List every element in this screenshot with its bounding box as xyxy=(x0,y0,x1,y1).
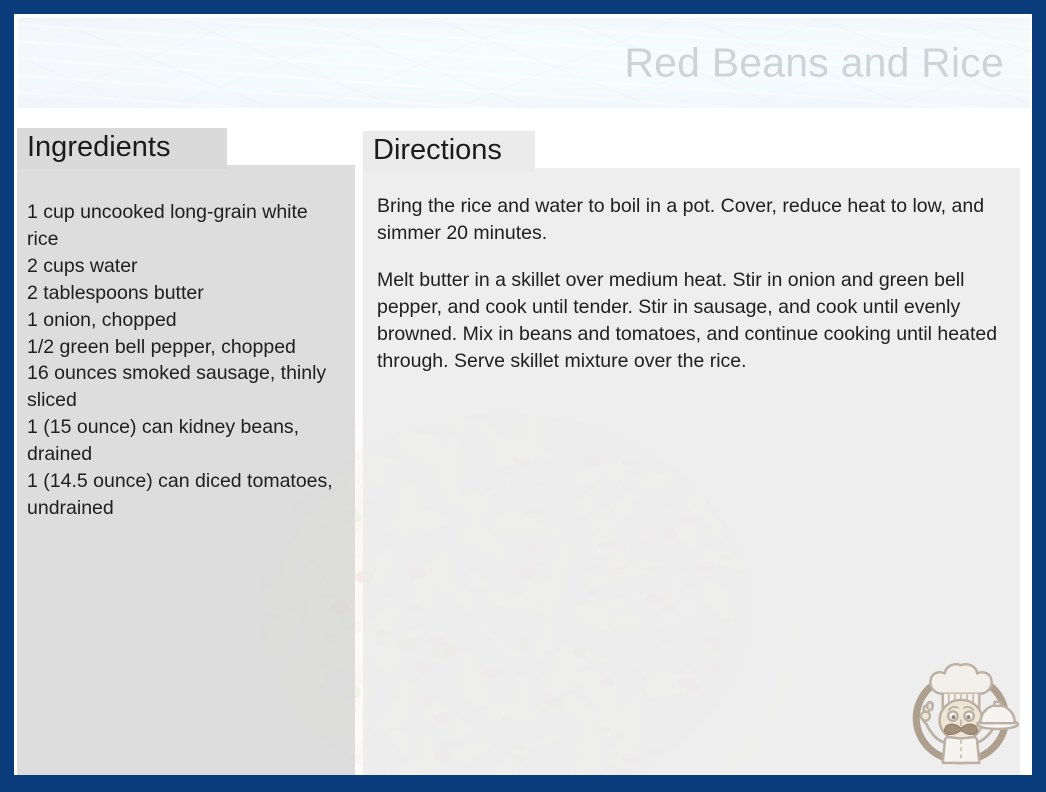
content-panels: Ingredients 1 cup uncooked long-grain wh… xyxy=(14,14,1032,775)
direction-step: Bring the rice and water to boil in a po… xyxy=(377,193,1006,247)
chef-with-platter-logo xyxy=(900,649,1022,771)
ingredients-body: 1 cup uncooked long-grain white rice2 cu… xyxy=(17,165,355,775)
ingredient-item: 1 (14.5 ounce) can diced tomatoes, undra… xyxy=(27,468,343,522)
ingredient-item: 1 onion, chopped xyxy=(27,307,343,334)
ingredients-heading: Ingredients xyxy=(17,128,227,169)
ingredient-item: 1 cup uncooked long-grain white rice xyxy=(27,199,343,253)
ingredients-list: 1 cup uncooked long-grain white rice2 cu… xyxy=(27,199,343,522)
directions-list: Bring the rice and water to boil in a po… xyxy=(377,193,1006,374)
ingredient-item: 16 ounces smoked sausage, thinly sliced xyxy=(27,360,343,414)
direction-step: Melt butter in a skillet over medium hea… xyxy=(377,267,1006,375)
ingredient-item: 2 cups water xyxy=(27,253,343,280)
ingredient-item: 1/2 green bell pepper, chopped xyxy=(27,334,343,361)
directions-heading: Directions xyxy=(363,131,535,172)
slide-page: Red Beans and Rice Ingredients 1 cup unc… xyxy=(14,14,1032,775)
ingredient-item: 1 (15 ounce) can kidney beans, drained xyxy=(27,414,343,468)
recipe-slide: Red Beans and Rice Ingredients 1 cup unc… xyxy=(0,0,1046,792)
ingredient-item: 2 tablespoons butter xyxy=(27,280,343,307)
